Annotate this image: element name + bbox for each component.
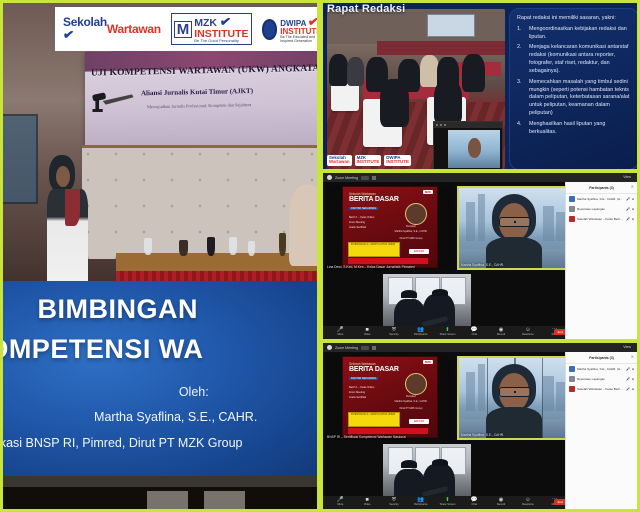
poster-line: Zoom Meeting <box>349 221 365 224</box>
attendee <box>434 79 462 124</box>
eyeglasses-icon <box>499 217 530 227</box>
tile-caption: BNSP RI – Sertifikasi Kompetensi Wartawa… <box>327 435 406 439</box>
share-screen-button[interactable]: ⬆ Share Screen <box>434 328 461 336</box>
speaker-face <box>56 166 70 187</box>
slide-speaker-credentials: fikasi BNSP RI, Pimred, Dirut PT MZK Gro… <box>3 436 243 450</box>
building <box>478 194 486 240</box>
camera-icon[interactable]: ■ <box>632 367 634 371</box>
zoom-titlebar: Zoom Meeting View <box>323 343 637 352</box>
zoom-toolbar[interactable]: 🎤 Mute ■ Video ⛨ Security 👥 Participants… <box>323 496 572 509</box>
avatar <box>569 196 575 202</box>
berita-dasar-poster: Sekolah Wartawan BERITA DASAR MZK DAFTAR… <box>342 186 438 268</box>
organizer-logo-bar: Sekolah ✔ Wartawan M MZK ✔ INSTITUTE Be … <box>55 7 320 51</box>
inset-titlebar <box>434 122 502 128</box>
building <box>478 364 486 410</box>
attendee <box>420 55 440 87</box>
speaker-person <box>47 155 88 297</box>
cap <box>401 460 418 468</box>
participant-row[interactable]: Sekolah Wartawan – Kelas Berita Dasar 🎤 … <box>566 214 637 224</box>
zoom-video-stage: Sekolah Wartawan BERITA DASAR MZK DAFTAR… <box>323 182 572 326</box>
mzk-institute-logo: M MZK ✔ INSTITUTE Be The Good Personalit… <box>171 13 252 45</box>
poster-line: Batch 1 – Kelas Online <box>349 216 374 219</box>
microphone-icon[interactable]: 🎤 <box>626 207 630 211</box>
sekolah-wartawan-logo: Sekolah Wartawan <box>327 155 352 166</box>
participant-row[interactable]: Reportase Lapangan 🎤 ■ <box>566 204 637 214</box>
microphone-icon[interactable]: 🎤 <box>626 217 630 221</box>
laptop <box>204 491 245 509</box>
tile-caption: Lina Dewi, S.Ked, M.Kes – Kelas Dasar Ju… <box>327 265 415 269</box>
participant-row[interactable]: Sekolah Wartawan – Kelas Berita Dasar 🎤 … <box>566 384 637 394</box>
poster-price-note: INVESTASI Rp 0,- GRATIS UNTUK UMUM <box>348 412 400 427</box>
button-label: Record <box>497 334 505 337</box>
participant-row[interactable]: Martha Syaflina, S.E., CAHR. (Host, me) … <box>566 194 637 204</box>
check-icon: ✔ <box>307 14 320 28</box>
cap <box>432 459 448 466</box>
button-label: Security <box>389 334 398 337</box>
button-label: Reactions <box>522 334 534 337</box>
zoom-toolbar[interactable]: 🎤 Mute ■ Video ⛨ Security 👥 Participants… <box>323 326 572 339</box>
chat-button[interactable]: 💬 Chat <box>461 498 488 506</box>
glass <box>229 237 237 255</box>
poster-register-button[interactable]: DAFTAR SEKARANG <box>349 207 378 210</box>
item-number: 4. <box>517 121 525 137</box>
poster-cta-button[interactable]: DAFTAR <box>409 249 429 254</box>
poster-line: Zoom Meeting <box>349 391 365 394</box>
avatar <box>569 216 575 222</box>
zoom-meeting-panel-2: Zoom Meeting View Sekolah Wartawan BERIT… <box>320 340 640 512</box>
poster-speaker-role: Pemateri <box>391 395 431 398</box>
poster-speaker-name: Martha Syaflina, S.E., CAHR. <box>391 230 431 233</box>
participants-title: Participants (3) <box>589 186 614 190</box>
zoom-video-stage: Sekolah Wartawan BERITA DASAR MZK DAFTAR… <box>323 352 572 496</box>
microphone-icon[interactable]: 🎤 <box>626 367 630 371</box>
participant-name: Sekolah Wartawan – Kelas Berita Dasar <box>577 217 624 221</box>
sekolah-wartawan-logo: Sekolah ✔ Wartawan <box>63 16 161 41</box>
poster-badge: MZK <box>423 190 433 194</box>
poster-cta-button[interactable]: DAFTAR <box>409 419 429 424</box>
button-label: Mute <box>338 504 344 507</box>
reactions-button[interactable]: ☺ Reactions <box>514 328 541 336</box>
attendee <box>462 54 485 92</box>
mzk-m-mark: M <box>174 21 193 38</box>
participant-row[interactable]: Reportase Lapangan 🎤 ■ <box>566 374 637 384</box>
camera-icon[interactable]: ■ <box>632 197 634 201</box>
slide-title-line2: OMPETENSI WA <box>3 334 317 365</box>
button-label: Security <box>389 504 398 507</box>
camera-icon[interactable]: ■ <box>632 387 634 391</box>
dwipa-tagline: Be The Educated and Inspired Generation <box>280 36 320 43</box>
photo-collage: UJI KOMPETENSI WARTAWAN (UKW) ANGKATAN A… <box>0 0 640 512</box>
tile-active-speaker[interactable]: Martha Syaflina, S.E., CAHR. <box>457 186 571 270</box>
participant-name: Martha Syaflina, S.E., CAHR. (Host, me) <box>577 367 624 371</box>
list-item: 3. Memecahkan masalah yang timbul sedini… <box>517 79 632 118</box>
item-text: Menghasilkan hasil liputan yang berkuali… <box>529 121 632 137</box>
dwipa-emblem-icon <box>262 19 278 40</box>
button-label: Share Screen <box>440 504 456 507</box>
attendee <box>329 54 349 86</box>
list-item: 4. Menghasilkan hasil liputan yang berku… <box>517 121 632 137</box>
zoom-window-title: Zoom Meeting <box>335 346 358 350</box>
avatar <box>569 376 575 382</box>
speaker-silhouette <box>490 194 538 268</box>
projection-screen <box>427 14 475 37</box>
berita-dasar-poster: Sekolah Wartawan BERITA DASAR MZK DAFTAR… <box>342 356 438 438</box>
tile-shared-poster[interactable]: Sekolah Wartawan BERITA DASAR MZK DAFTAR… <box>325 356 453 440</box>
mzk-tagline: Be The Good Personality <box>194 39 248 43</box>
glass <box>144 238 152 255</box>
avatar <box>569 386 575 392</box>
tile-caption: Martha Syaflina, S.E., CAHR. <box>461 263 504 267</box>
slide-title-line1: BIMBINGAN <box>38 294 317 325</box>
participant-row[interactable]: Martha Syaflina, S.E., CAHR. (Host, me) … <box>566 364 637 374</box>
participants-title: Participants (3) <box>589 356 614 360</box>
logo-line2: Wartawan <box>107 23 161 35</box>
check-icon: ✔ <box>219 14 232 28</box>
zoom-meeting-panel-1: Zoom Meeting View Sekolah Wartawan BERIT… <box>320 170 640 342</box>
participants-header: Participants (3) ✕ <box>566 352 637 364</box>
zoom-logo-icon <box>327 345 332 350</box>
chat-button[interactable]: 💬 Chat <box>461 328 488 336</box>
poster-price-note: INVESTASI Rp 0,- GRATIS UNTUK UMUM <box>348 242 400 257</box>
building <box>466 202 476 240</box>
button-label: Chat <box>472 504 477 507</box>
tile-shared-poster[interactable]: Sekolah Wartawan BERITA DASAR MZK DAFTAR… <box>325 186 453 270</box>
slide-speaker-name: Martha Syaflina, S.E., CAHR. <box>94 410 257 424</box>
poster-footer-band <box>348 428 428 434</box>
poster-speaker-avatar <box>405 373 427 395</box>
camera-icon[interactable]: ■ <box>632 217 634 221</box>
button-label: Record <box>497 504 505 507</box>
list-item: 1. Mengoordinasikan kebijakan redaksi da… <box>517 26 632 42</box>
window-dot-icon <box>444 124 446 126</box>
check-icon: ✔ <box>62 28 74 43</box>
stage-table <box>377 41 505 55</box>
recording-indicator-icon <box>372 176 376 180</box>
share-screen-button[interactable]: ⬆ Share Screen <box>434 498 461 506</box>
avatar <box>569 206 575 212</box>
inset-face <box>468 138 482 159</box>
seated-person <box>289 185 317 266</box>
building <box>466 372 476 410</box>
button-label: Participants <box>414 334 428 337</box>
seminar-photo-panel: UJI KOMPETENSI WARTAWAN (UKW) ANGKATAN A… <box>0 0 320 512</box>
item-number: 1. <box>517 26 525 42</box>
participants-header: Participants (3) ✕ <box>566 182 637 194</box>
reactions-button[interactable]: ☺ Reactions <box>514 498 541 506</box>
button-label: Chat <box>472 334 477 337</box>
inset-video <box>448 130 500 168</box>
logo-line2: Wartawan <box>329 160 350 165</box>
dwipa-institute-logo: DWIPA ✔ INSTITUTE Be The Educated and In… <box>262 15 320 43</box>
view-switch-button[interactable]: View <box>623 175 631 179</box>
slide-lead-text: Rapat redaksi ini memiliki sasaran, yakn… <box>517 15 632 23</box>
laptop <box>147 491 188 509</box>
video-call-inset <box>433 121 503 171</box>
poster-line: Gratis Sertifikat <box>349 396 366 399</box>
mute-button[interactable]: 🎤 Mute <box>327 328 354 336</box>
tile-active-speaker[interactable]: Martha Syaflina, S.E., CAHR. <box>457 356 571 440</box>
recording-indicator-icon <box>372 346 376 350</box>
button-label: Video <box>364 334 371 337</box>
mzk-institute-logo: MZK INSTITUTE <box>355 155 382 166</box>
poster-line: Gratis Sertifikat <box>349 226 366 229</box>
side-projection-screen <box>3 114 38 204</box>
video-button[interactable]: ■ Video <box>354 328 381 336</box>
seminar-scene: UJI KOMPETENSI WARTAWAN (UKW) ANGKATAN A… <box>3 3 317 509</box>
participants-button[interactable]: 👥 Participants <box>407 498 434 506</box>
dark-glass <box>207 237 215 256</box>
tile-caption: Martha Syaflina, S.E., CAHR. <box>461 433 504 437</box>
poster-speaker-avatar <box>405 203 427 225</box>
button-label: Video <box>364 504 371 507</box>
microphone-icon[interactable]: 🎤 <box>626 377 630 381</box>
video-button[interactable]: ■ Video <box>354 498 381 506</box>
poster-headline: BERITA DASAR <box>349 366 399 373</box>
speaker-scarf <box>65 189 80 226</box>
view-switch-button[interactable]: View <box>623 345 631 349</box>
close-icon[interactable]: ✕ <box>631 184 634 189</box>
poster-footer-band <box>348 258 428 264</box>
cap <box>401 290 418 298</box>
participant-name: Martha Syaflina, S.E., CAHR. (Host, me) <box>577 197 624 201</box>
poster-speaker-sub: Dirut PT MZK Group <box>391 407 431 410</box>
poster-speaker-role: Pemateri <box>391 225 431 228</box>
eyeglasses-icon <box>499 387 530 397</box>
poster-headline: BERITA DASAR <box>349 196 399 203</box>
button-label: Participants <box>414 504 428 507</box>
item-text: Mengoordinasikan kebijakan redaksi dan l… <box>529 26 632 42</box>
participant-name: Sekolah Wartawan – Kelas Berita Dasar <box>577 387 624 391</box>
poster-speaker-sub: Dirut PT MZK Group <box>391 237 431 240</box>
speaker-silhouette <box>490 364 538 438</box>
button-label: Share Screen <box>440 334 456 337</box>
logo-line2: INSTITUTE <box>357 160 380 165</box>
poster-speaker-name: Martha Syaflina, S.E., CAHR. <box>391 400 431 403</box>
list-item: 2. Menjaga kelancaran komunikasi antarst… <box>517 44 632 75</box>
record-button[interactable]: ◉ Record <box>488 328 515 336</box>
item-text: Menjaga kelancaran komunikasi antarstaf … <box>529 44 632 75</box>
poster-price-text: INVESTASI Rp 0,- GRATIS UNTUK UMUM <box>349 413 399 418</box>
building <box>543 376 554 411</box>
button-label: Reactions <box>522 504 534 507</box>
participant-name: Reportase Lapangan <box>577 377 624 381</box>
zoom-window-title: Zoom Meeting <box>335 176 358 180</box>
participants-button[interactable]: 👥 Participants <box>407 328 434 336</box>
zoom-logo-icon <box>327 175 332 180</box>
item-number: 3. <box>517 79 525 118</box>
slide-heading: Rapat Redaksi <box>327 3 405 15</box>
record-button[interactable]: ◉ Record <box>488 498 515 506</box>
attendee <box>380 79 408 127</box>
building <box>543 206 554 241</box>
poster-register-button[interactable]: DAFTAR SEKARANG <box>349 377 378 380</box>
meeting-info-pill[interactable] <box>361 346 369 350</box>
slide-footer-logos: Sekolah Wartawan MZK INSTITUTE DWIPA INS… <box>327 155 411 166</box>
participants-panel: Participants (3) ✕ Martha Syaflina, S.E.… <box>565 182 637 339</box>
microphone-icon[interactable]: 🎤 <box>626 387 630 391</box>
close-icon[interactable]: ✕ <box>631 354 634 359</box>
window-dot-icon <box>440 124 442 126</box>
cup <box>179 240 188 256</box>
security-button[interactable]: ⛨ Security <box>381 328 408 336</box>
mute-button[interactable]: 🎤 Mute <box>327 498 354 506</box>
poster-line: Batch 1 – Kelas Online <box>349 386 374 389</box>
participants-panel: Participants (3) ✕ Martha Syaflina, S.E.… <box>565 352 637 509</box>
attendee <box>347 57 365 86</box>
presentation-slide-panel: Rapat Redaksi <box>320 0 640 172</box>
avatar <box>569 366 575 372</box>
poster-badge: MZK <box>423 360 433 364</box>
participant-name: Reportase Lapangan <box>577 207 624 211</box>
logo-line2: INSTITUTE <box>386 160 409 165</box>
slide-text-box: Rapat redaksi ini memiliki sasaran, yakn… <box>509 8 639 170</box>
desk-edge <box>3 476 317 487</box>
meeting-info-pill[interactable] <box>361 176 369 180</box>
glass <box>248 241 255 256</box>
window-dot-icon <box>436 124 438 126</box>
microphone-icon[interactable]: 🎤 <box>626 197 630 201</box>
gavel-icon <box>91 84 135 119</box>
camera-icon[interactable]: ■ <box>632 207 634 211</box>
zoom-titlebar: Zoom Meeting View <box>323 173 637 182</box>
bottle <box>279 233 285 256</box>
camera-icon[interactable]: ■ <box>632 377 634 381</box>
cap <box>432 289 448 296</box>
slide-by-label: Oleh: <box>179 385 209 399</box>
dwipa-institute-logo: DWIPA INSTITUTE <box>384 155 411 166</box>
item-number: 2. <box>517 44 525 75</box>
security-button[interactable]: ⛨ Security <box>381 498 408 506</box>
poster-price-text: INVESTASI Rp 0,- GRATIS UNTUK UMUM <box>349 243 399 248</box>
button-label: Mute <box>338 334 344 337</box>
item-text: Memecahkan masalah yang timbul sedini mu… <box>529 79 632 118</box>
slide-objective-list: 1. Mengoordinasikan kebijakan redaksi da… <box>517 26 632 137</box>
